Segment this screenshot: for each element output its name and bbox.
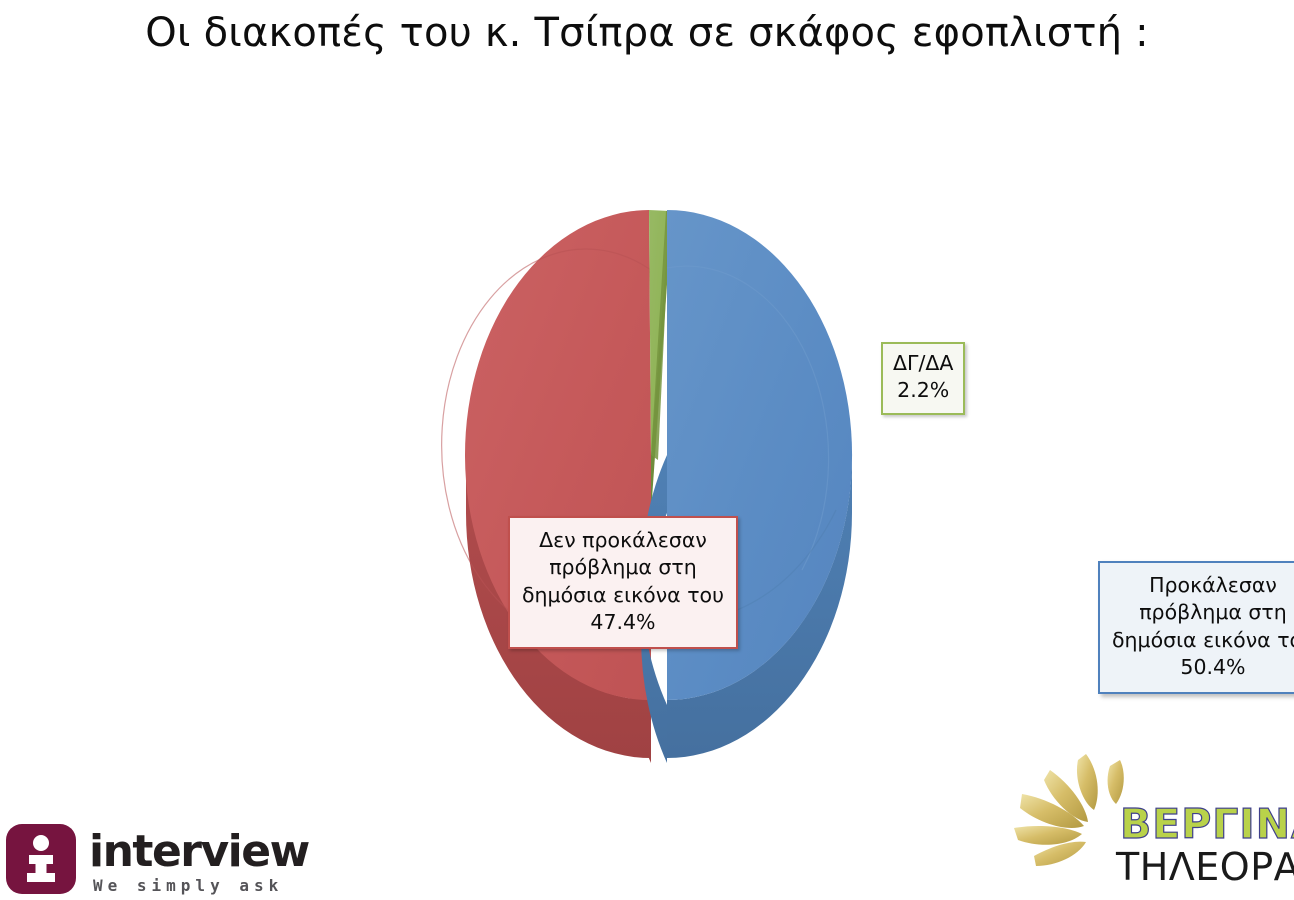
label-left-line3: δημόσια εικόνα του bbox=[522, 583, 724, 607]
label-top-line1: ΔΓ/ΔΑ bbox=[893, 351, 953, 375]
interview-info-icon bbox=[6, 824, 76, 894]
label-right-line3: δημόσια εικόνα του bbox=[1112, 628, 1294, 652]
info-icon-serif-bottom bbox=[27, 873, 55, 882]
data-label-blue[interactable]: Προκάλεσαν πρόβλημα στη δημόσια εικόνα τ… bbox=[1098, 561, 1294, 694]
label-right-line1: Προκάλεσαν bbox=[1149, 573, 1277, 597]
info-icon-dot bbox=[33, 835, 49, 851]
label-right-line2: πρόβλημα στη bbox=[1139, 600, 1287, 624]
pie-chart: Δεν προκάλεσαν πρόβλημα στη δημόσια εικό… bbox=[280, 150, 1040, 790]
pie-slice-blue[interactable] bbox=[641, 210, 852, 763]
interview-tagline: We simply ask bbox=[93, 876, 283, 895]
label-left-value: 47.4% bbox=[522, 609, 724, 636]
page-title: Οι διακοπές του κ. Τσίπρα σε σκάφος εφοπ… bbox=[0, 10, 1294, 56]
interview-wordmark: interview bbox=[89, 826, 309, 877]
label-right-value: 50.4% bbox=[1112, 654, 1294, 681]
interview-logo: interview We simply ask bbox=[6, 824, 296, 896]
label-left-line1: Δεν προκάλεσαν bbox=[539, 528, 707, 552]
pie-chart-svg bbox=[280, 150, 1040, 790]
data-label-red[interactable]: Δεν προκάλεσαν πρόβλημα στη δημόσια εικό… bbox=[508, 516, 738, 649]
vergina-name: ΒΕΡΓΙΝΑ bbox=[1120, 800, 1294, 848]
vergina-subtitle: ΤΗΛΕΟΡΑΣΗ bbox=[1116, 845, 1294, 889]
data-label-green[interactable]: ΔΓ/ΔΑ 2.2% bbox=[881, 342, 965, 415]
vergina-tv-logo: ΒΕΡΓΙΝΑ ΤΗΛΕΟΡΑΣΗ bbox=[1008, 752, 1288, 892]
label-left-line2: πρόβλημα στη bbox=[549, 555, 697, 579]
pie-slice-red[interactable] bbox=[442, 210, 651, 763]
label-top-value: 2.2% bbox=[893, 377, 953, 404]
